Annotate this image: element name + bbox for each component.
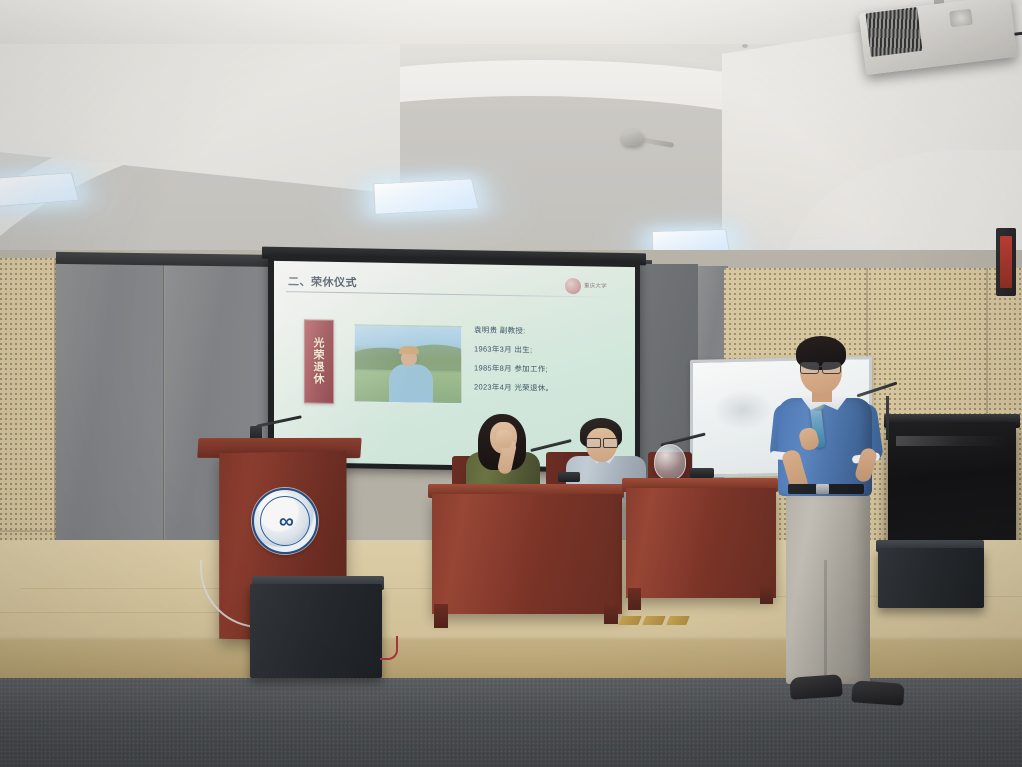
emblem-glyph: ∞ <box>279 511 291 532</box>
table-leg <box>434 604 448 628</box>
wall-gray-panel-left <box>56 262 164 584</box>
standing-speaker-shoe-left <box>789 674 842 700</box>
bio-line-birth: 1963年3月 出生; <box>474 343 624 357</box>
wall-wood-panel-left <box>0 258 56 588</box>
auditorium-scene: 二、荣休仪式 重庆大学 光 荣 退 休 <box>0 0 1022 767</box>
security-camera-icon <box>622 130 644 146</box>
floor-trim-strip <box>666 616 690 625</box>
bio-line-name: 袁明贵 副教授: <box>474 324 624 338</box>
panel-seam <box>0 530 56 532</box>
water-decanter <box>654 444 686 480</box>
conference-table-left <box>432 494 622 614</box>
seated-man-glasses-icon <box>586 438 601 448</box>
standing-speaker-trousers <box>786 490 870 684</box>
conference-table-right <box>626 488 776 598</box>
glorious-retirement-banner: 光 荣 退 休 <box>304 319 334 404</box>
photo-person-body <box>389 364 433 404</box>
bio-line-work-start: 1985年8月 参加工作; <box>474 362 624 376</box>
piano-reflection <box>896 436 1008 446</box>
retiree-photo <box>354 324 462 404</box>
emblem-ring: ∞ <box>260 496 310 546</box>
projector-lens-icon <box>949 9 973 28</box>
speaker-cable <box>380 636 398 660</box>
stage-monitor-speaker-right <box>878 548 984 608</box>
floor-trim-strip <box>618 616 642 625</box>
university-logo: 重庆大学 <box>565 276 623 297</box>
stage-monitor-speaker-left <box>250 584 382 678</box>
table-leg <box>604 602 618 624</box>
standing-speaker-shoe-right <box>851 680 904 706</box>
seated-woman-hand <box>496 430 512 448</box>
podium-emblem: ∞ <box>252 488 318 554</box>
banner-char-3: 退 <box>314 362 325 373</box>
ceiling-light-panel <box>373 179 479 215</box>
fire-equipment-icon <box>1000 236 1012 288</box>
table-leg <box>628 588 641 610</box>
glasses-bridge <box>817 366 823 367</box>
photo-person-cap <box>399 346 419 354</box>
university-logo-mark <box>565 278 581 294</box>
banner-char-4: 休 <box>314 374 325 385</box>
table-leg <box>760 584 773 604</box>
seated-man-glasses-icon <box>603 438 618 448</box>
projector-vent-grille <box>866 7 923 57</box>
standing-speaker-glasses-icon <box>822 362 841 374</box>
banner-char-1: 光 <box>314 338 325 349</box>
trouser-seam <box>824 560 827 684</box>
standing-speaker-glasses-icon <box>800 362 819 374</box>
belt-buckle <box>816 484 829 494</box>
floor-trim-strip <box>642 616 666 625</box>
whiteboard-marks <box>713 389 773 430</box>
table-microphone-base-right <box>690 468 714 478</box>
university-logo-text: 重庆大学 <box>584 283 607 290</box>
banner-char-2: 荣 <box>314 350 325 361</box>
retiree-bio-lines: 袁明贵 副教授: 1963年3月 出生; 1985年8月 参加工作; 2023年… <box>474 324 624 395</box>
slide-title: 二、荣休仪式 <box>288 273 357 290</box>
bio-line-retirement: 2023年4月 光荣退休。 <box>474 381 624 395</box>
microphone-stand-pole <box>886 396 889 440</box>
table-microphone-base-left <box>558 472 580 482</box>
ceiling-downlight <box>742 44 748 48</box>
